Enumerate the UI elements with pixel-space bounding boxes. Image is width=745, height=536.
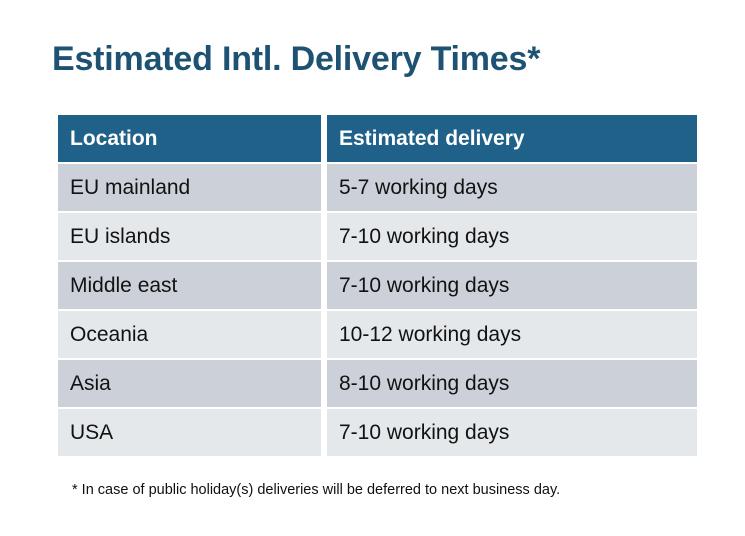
- table-header-row: Location Estimated delivery: [58, 115, 697, 162]
- cell-delivery: 7-10 working days: [327, 213, 697, 260]
- table-row: EU mainland 5-7 working days: [58, 164, 697, 211]
- cell-delivery: 7-10 working days: [327, 409, 697, 456]
- table-body: EU mainland 5-7 working days EU islands …: [58, 164, 697, 456]
- cell-location: USA: [58, 409, 321, 456]
- table-row: Asia 8-10 working days: [58, 360, 697, 407]
- table-row: Oceania 10-12 working days: [58, 311, 697, 358]
- table-row: Middle east 7-10 working days: [58, 262, 697, 309]
- cell-delivery: 10-12 working days: [327, 311, 697, 358]
- table-header: Location Estimated delivery: [58, 115, 697, 162]
- table-row: USA 7-10 working days: [58, 409, 697, 456]
- column-header-location: Location: [58, 115, 321, 162]
- delivery-times-table: Location Estimated delivery EU mainland …: [52, 113, 703, 458]
- table-footnote: * In case of public holiday(s) deliverie…: [72, 480, 560, 500]
- column-header-estimated-delivery: Estimated delivery: [327, 115, 697, 162]
- cell-delivery: 7-10 working days: [327, 262, 697, 309]
- page-title: Estimated Intl. Delivery Times*: [52, 38, 540, 80]
- cell-location: EU mainland: [58, 164, 321, 211]
- cell-location: Oceania: [58, 311, 321, 358]
- cell-location: Asia: [58, 360, 321, 407]
- table-row: EU islands 7-10 working days: [58, 213, 697, 260]
- delivery-times-page: Estimated Intl. Delivery Times* Location…: [0, 0, 745, 536]
- cell-location: EU islands: [58, 213, 321, 260]
- cell-location: Middle east: [58, 262, 321, 309]
- cell-delivery: 8-10 working days: [327, 360, 697, 407]
- cell-delivery: 5-7 working days: [327, 164, 697, 211]
